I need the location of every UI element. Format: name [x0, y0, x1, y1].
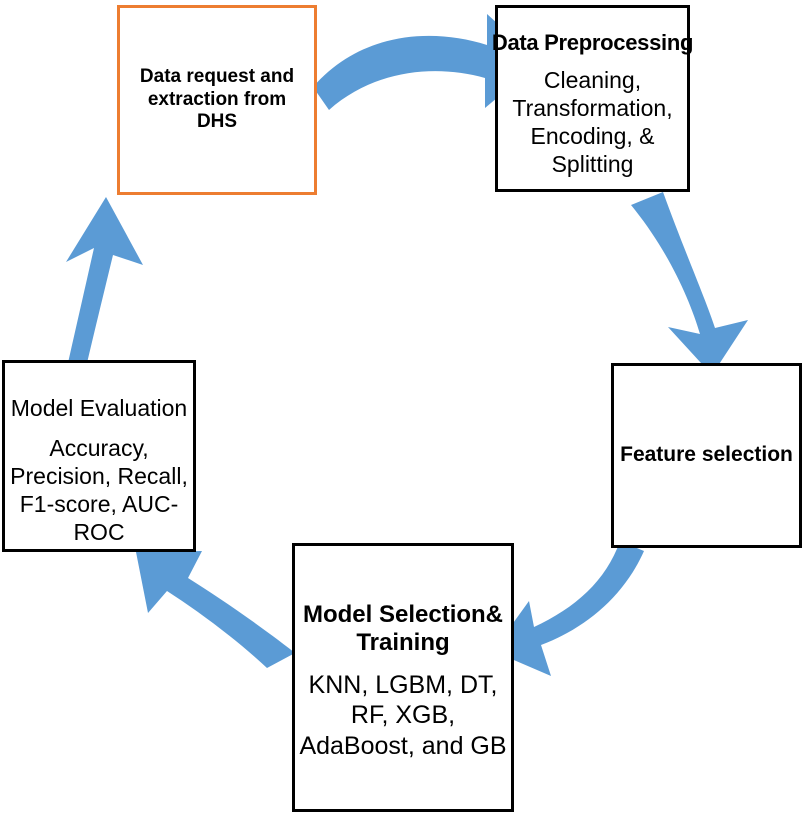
node-data-request[interactable]: Data request and extraction from DHS [117, 5, 317, 195]
arrow-feature-to-model-selection [493, 541, 644, 676]
node-model-evaluation-title: Model Evaluation [11, 395, 187, 422]
node-model-selection-training[interactable]: Model Selection& Training KNN, LGBM, DT,… [292, 543, 514, 812]
arrow-model-selection-to-evaluation [136, 551, 295, 668]
node-model-selection-training-body: KNN, LGBM, DT, RF, XGB, AdaBoost, and GB [295, 670, 511, 762]
node-model-selection-training-title: Model Selection& Training [295, 601, 511, 658]
node-data-preprocessing-title: Data Preprocessing [492, 30, 693, 56]
node-data-request-title: Data request and extraction from DHS [120, 66, 314, 133]
node-data-preprocessing-body: Cleaning, Transformation, Encoding, & Sp… [498, 66, 687, 178]
node-model-evaluation-body: Accuracy, Precision, Recall, F1-score, A… [5, 434, 193, 546]
node-feature-selection-title: Feature selection [620, 443, 793, 468]
flowchart-canvas: Data request and extraction from DHS Dat… [0, 0, 809, 817]
node-model-evaluation[interactable]: Model Evaluation Accuracy, Precision, Re… [2, 360, 196, 552]
node-feature-selection[interactable]: Feature selection [611, 363, 802, 548]
arrow-preprocessing-to-feature [631, 192, 748, 375]
node-data-preprocessing[interactable]: Data Preprocessing Cleaning, Transformat… [495, 5, 690, 192]
